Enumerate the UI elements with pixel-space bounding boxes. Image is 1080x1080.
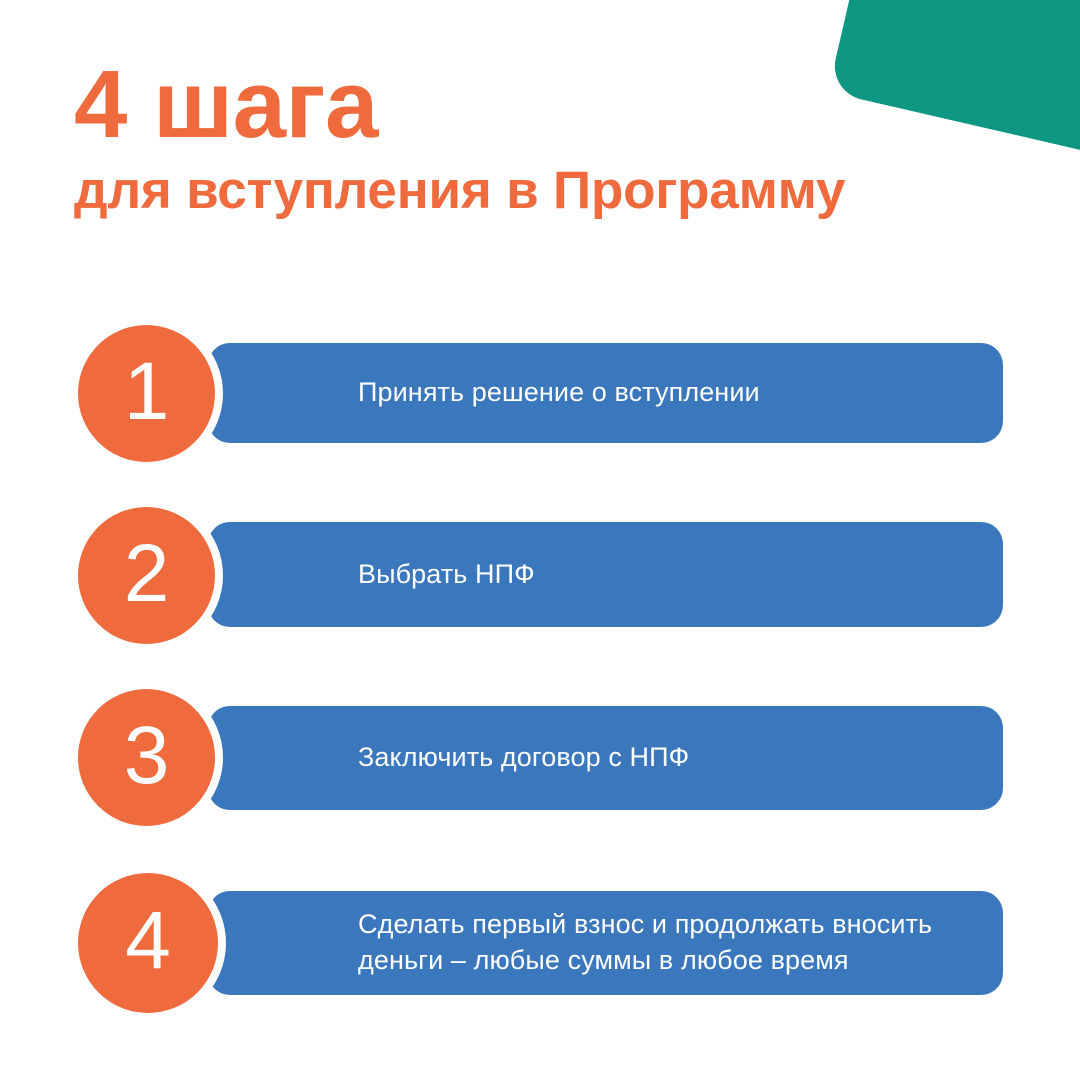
step-number-badge-1: 1	[78, 325, 215, 462]
step-bar-2: Выбрать НПФ	[208, 522, 1003, 627]
step-number-text-4: 4	[125, 900, 171, 982]
step-bar-3: Заключить договор с НПФ	[208, 706, 1003, 810]
step-number-badge-4: 4	[78, 873, 218, 1013]
step-label-1: Принять решение о вступлении	[208, 375, 786, 410]
step-item-2: Выбрать НПФ 2	[78, 507, 1003, 644]
step-bar-1: Принять решение о вступлении	[208, 343, 1003, 443]
steps-list: Принять решение о вступлении 1 Выбрать Н…	[0, 0, 1080, 1080]
step-label-2: Выбрать НПФ	[208, 557, 561, 592]
step-item-3: Заключить договор с НПФ 3	[78, 689, 1003, 826]
step-label-3: Заключить договор с НПФ	[208, 740, 715, 775]
step-number-text-3: 3	[124, 715, 170, 797]
step-number-badge-3: 3	[78, 689, 215, 826]
step-number-badge-2: 2	[78, 507, 215, 644]
step-number-text-2: 2	[124, 533, 170, 615]
infographic-poster: 4 шага для вступления в Программу Принят…	[0, 0, 1080, 1080]
step-bar-4: Сделать первый взнос и продолжать вносит…	[208, 891, 1003, 995]
step-number-text-1: 1	[124, 351, 170, 433]
step-item-1: Принять решение о вступлении 1	[78, 325, 1003, 462]
step-item-4: Сделать первый взнос и продолжать вносит…	[78, 873, 1003, 1013]
step-label-4: Сделать первый взнос и продолжать вносит…	[208, 907, 958, 979]
